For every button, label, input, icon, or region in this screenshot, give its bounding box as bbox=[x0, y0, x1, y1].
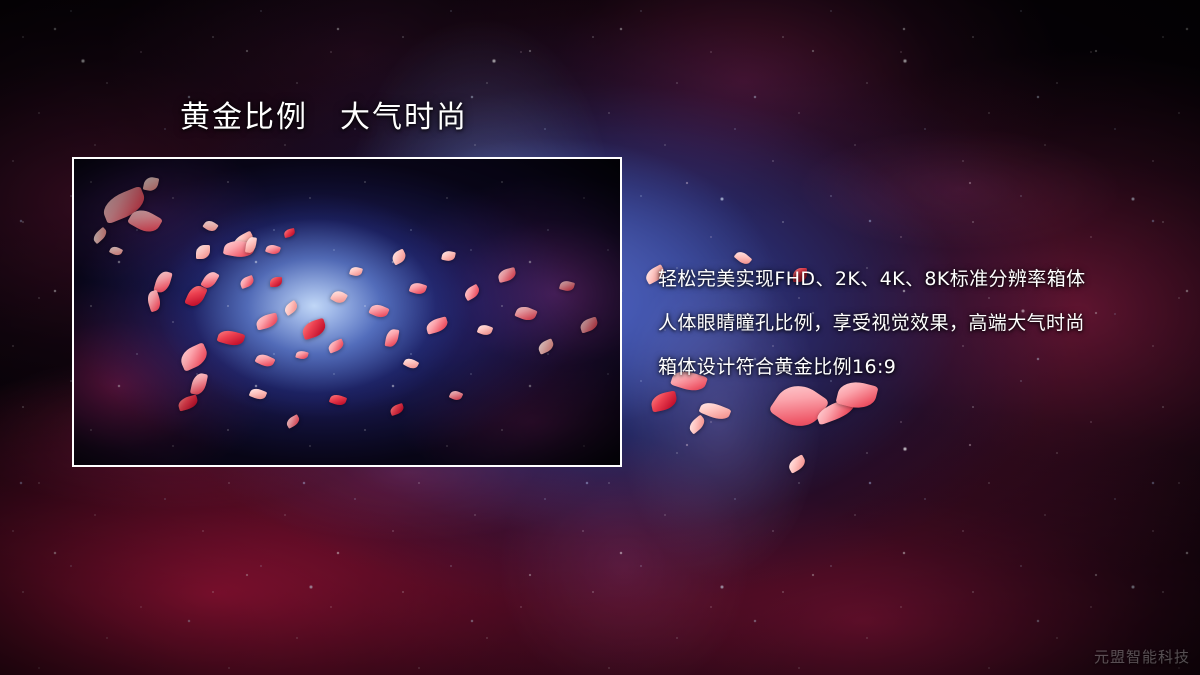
slide-title: 黄金比例 大气时尚 bbox=[180, 100, 468, 136]
petal-shape bbox=[698, 399, 731, 423]
presentation-slide: 黄金比例 大气时尚 轻松完美实现FHD、2K、4K、8K标准分辨率箱体 人体眼睛… bbox=[0, 0, 1200, 675]
preview-vignette-overlay bbox=[74, 159, 620, 465]
body-line-2: 人体眼睛瞳孔比例，享受视觉效果，高端大气时尚 bbox=[658, 301, 1178, 345]
preview-image-frame bbox=[72, 157, 622, 467]
petal-shape bbox=[786, 454, 808, 473]
petal-shape bbox=[687, 415, 708, 435]
petal-shape bbox=[650, 390, 679, 412]
body-line-3: 箱体设计符合黄金比例16:9 bbox=[658, 345, 1178, 389]
petal-shape bbox=[814, 397, 857, 426]
watermark: 元盟智能科技 bbox=[1094, 646, 1190, 667]
body-line-1: 轻松完美实现FHD、2K、4K、8K标准分辨率箱体 bbox=[658, 257, 1178, 301]
preview-image bbox=[74, 159, 620, 465]
body-text-block: 轻松完美实现FHD、2K、4K、8K标准分辨率箱体 人体眼睛瞳孔比例，享受视觉效… bbox=[658, 257, 1178, 389]
